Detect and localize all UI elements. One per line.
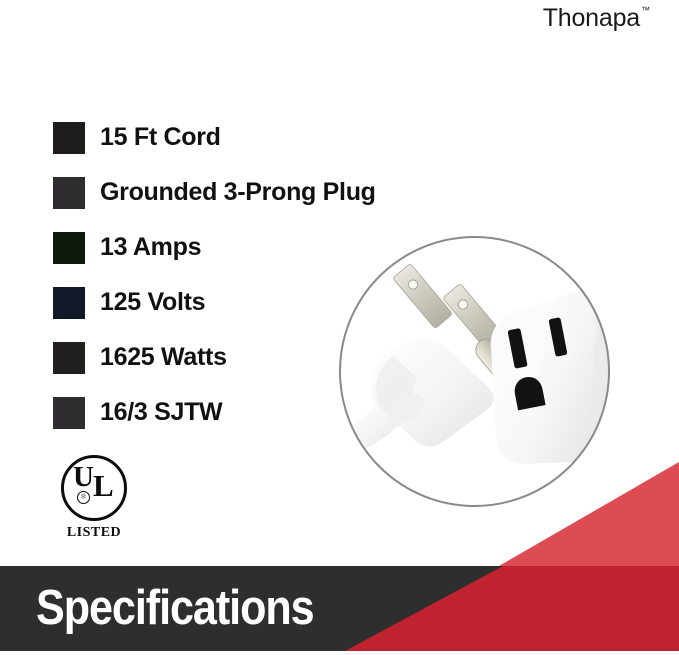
- ul-listed-icon: U L ® LISTED: [54, 455, 134, 541]
- bullet-square-icon: [53, 287, 85, 319]
- feature-label: 125 Volts: [100, 288, 205, 317]
- ul-listed-caption: LISTED: [54, 525, 134, 541]
- bullet-square-icon: [53, 232, 85, 264]
- bullet-square-icon: [53, 342, 85, 374]
- bullet-square-icon: [53, 122, 85, 154]
- ul-circle: U L ®: [61, 455, 127, 521]
- trademark-icon: ™: [641, 5, 650, 15]
- page-title: Specifications: [36, 579, 314, 635]
- feature-label: Grounded 3-Prong Plug: [100, 178, 376, 207]
- list-item: Grounded 3-Prong Plug: [53, 165, 473, 220]
- bullet-square-icon: [53, 177, 85, 209]
- brand-name: Thonapa: [543, 4, 640, 32]
- list-item: 15 Ft Cord: [53, 110, 473, 165]
- feature-label: 1625 Watts: [100, 343, 227, 372]
- feature-label: 16/3 SJTW: [100, 398, 222, 427]
- bullet-square-icon: [53, 397, 85, 429]
- brand-wordmark: Thonapa™: [0, 4, 649, 33]
- feature-label: 15 Ft Cord: [100, 123, 221, 152]
- ul-letter-u: U: [73, 463, 94, 492]
- product-image-frame: [339, 236, 610, 507]
- ul-letter-l: L: [93, 470, 114, 501]
- specifications-banner: Specifications: [0, 566, 679, 651]
- registered-icon: ®: [77, 491, 90, 504]
- feature-label: 13 Amps: [100, 233, 201, 262]
